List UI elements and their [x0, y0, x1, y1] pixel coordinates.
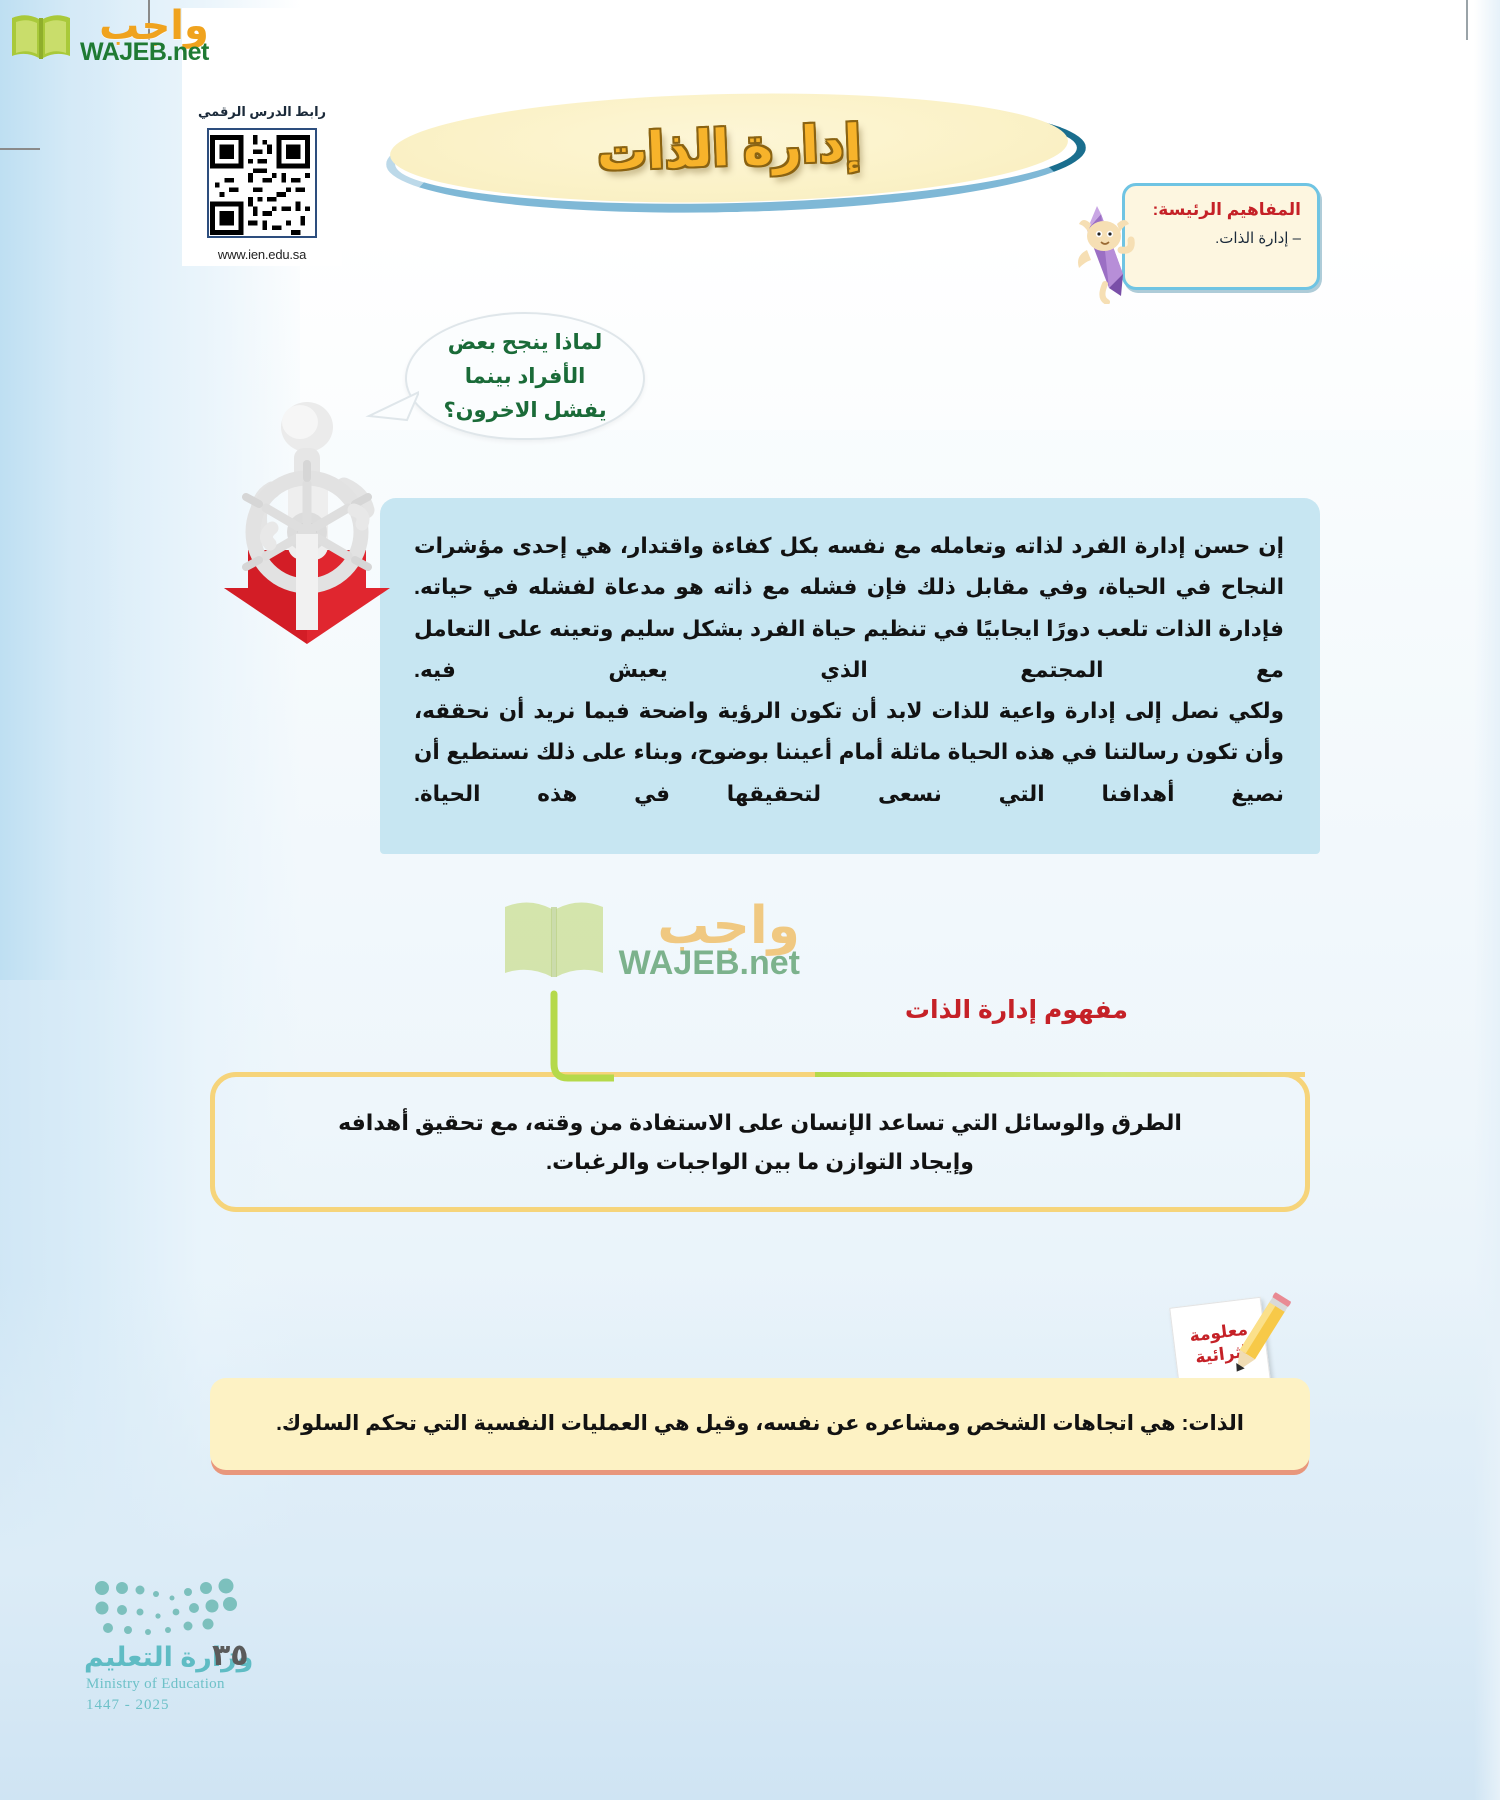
pencil-note-icon: [1222, 1290, 1296, 1382]
footer-years: 2025 - 1447: [86, 1697, 170, 1714]
background-left-band-inner: [0, 0, 120, 980]
qr-caption: رابط الدرس الرقمي: [198, 104, 326, 120]
key-concepts-heading: المفاهيم الرئيسة:: [1139, 200, 1301, 220]
lesson-title-banner: إدارة الذات: [386, 100, 1086, 212]
wajeb-watermark-center: واجب WAJEB.net: [500, 880, 800, 1000]
pencil-character-icon: [1061, 192, 1141, 304]
page-footer: وزارة التعليم Ministry of Education 2025…: [80, 1578, 410, 1738]
watermark-latin-text: WAJEB.net: [619, 946, 800, 980]
qr-code-icon[interactable]: [207, 128, 317, 238]
open-book-icon: [8, 10, 74, 62]
brand-latin-text: WAJEB.net: [80, 40, 209, 65]
watermark-arabic-text: واجب: [657, 900, 800, 952]
enrichment-info-text: الذات: هي اتجاهات الشخص ومشاعره عن نفسه،…: [276, 1407, 1244, 1441]
background-right-edge: [1474, 0, 1500, 1800]
bubble-line-3: يفشل الاخرون؟: [443, 398, 606, 423]
speech-bubble-tail: [363, 386, 419, 430]
ministry-of-education-logo: [88, 1578, 258, 1640]
main-content-box: إن حسن إدارة الفرد لذاته وتعامله مع نفسه…: [380, 498, 1320, 854]
section-heading: مفهوم إدارة الذات: [905, 995, 1128, 1025]
textbook-page: واجب WAJEB.net رابط الدرس الرقمي: [0, 0, 1500, 1800]
bubble-line-1: لماذا ينجح بعض: [448, 330, 603, 355]
key-concepts-card: المفاهيم الرئيسة: – إدارة الذات.: [1122, 183, 1320, 290]
watermark-wordmark: واجب WAJEB.net: [619, 900, 800, 980]
qr-url-label: www.ien.edu.sa: [218, 247, 306, 262]
ministry-name-english: Ministry of Education: [86, 1676, 225, 1693]
enrichment-info-box: الذات: هي اتجاهات الشخص ومشاعره عن نفسه،…: [210, 1378, 1310, 1470]
key-concepts-item: – إدارة الذات.: [1139, 229, 1301, 247]
crop-mark-horizontal: [0, 148, 40, 150]
main-paragraph-2: ولكي نصل إلى إدارة واعية للذات لابد أن ت…: [414, 691, 1284, 815]
watermark-book-icon: [499, 893, 609, 988]
green-elbow-connector: [544, 990, 614, 1090]
crop-mark-right: [1466, 0, 1468, 40]
question-speech-bubble: لماذا ينجح بعض الأفراد بينما يفشل الاخرو…: [405, 312, 645, 440]
wajeb-watermark-top: واجب WAJEB.net: [8, 6, 209, 65]
definition-bracket-box: [210, 1072, 1310, 1212]
bubble-line-2: الأفراد بينما: [465, 364, 586, 389]
page-number: ٣٥: [212, 1638, 249, 1673]
main-paragraph-1: إن حسن إدارة الفرد لذاته وتعامله مع نفسه…: [414, 526, 1284, 691]
wajeb-wordmark: واجب WAJEB.net: [80, 6, 209, 65]
page-title: إدارة الذات: [596, 114, 862, 182]
